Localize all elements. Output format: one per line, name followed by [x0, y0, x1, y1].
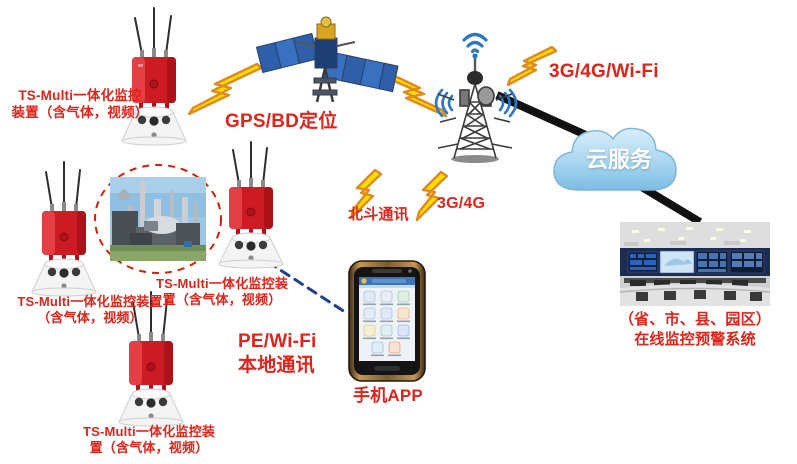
satellite-icon: [243, 6, 401, 114]
refinery-plant-photo: [110, 177, 206, 261]
gps-bd-label: GPS/BD定位: [225, 110, 355, 134]
cell-tower-icon: [424, 18, 536, 166]
control-room-photo: [620, 222, 770, 306]
cellular-3g4g-wifi-label: 3G/4G/Wi-Fi: [549, 60, 709, 84]
control-center-label: （省、市、县、园区） 在线监控预警系统: [608, 310, 782, 351]
device-middle-label: TS-Multi一体化监控装 置（含气体，视频）: [152, 276, 292, 309]
device-top: [108, 2, 200, 146]
diagram-canvas: 云服务: [0, 0, 797, 464]
device-top-label: TS-Multi一体化监控 装置（含气体，视频）: [0, 88, 160, 122]
device-middle: [205, 140, 297, 270]
device-left: [18, 160, 110, 298]
beidou-label: 北斗通讯: [348, 206, 438, 225]
device-bottom-label: TS-Multi一体化监控装 置（含气体，视频）: [64, 424, 234, 457]
pe-wifi-local-label: PE/Wi-Fi 本地通讯: [238, 330, 348, 378]
cloud-service-label: 云服务: [544, 142, 694, 174]
mobile-app-label: 手机APP: [343, 385, 433, 406]
rugged-phone-icon[interactable]: [348, 260, 426, 382]
cellular-3g4g-label: 3G/4G: [437, 194, 507, 214]
